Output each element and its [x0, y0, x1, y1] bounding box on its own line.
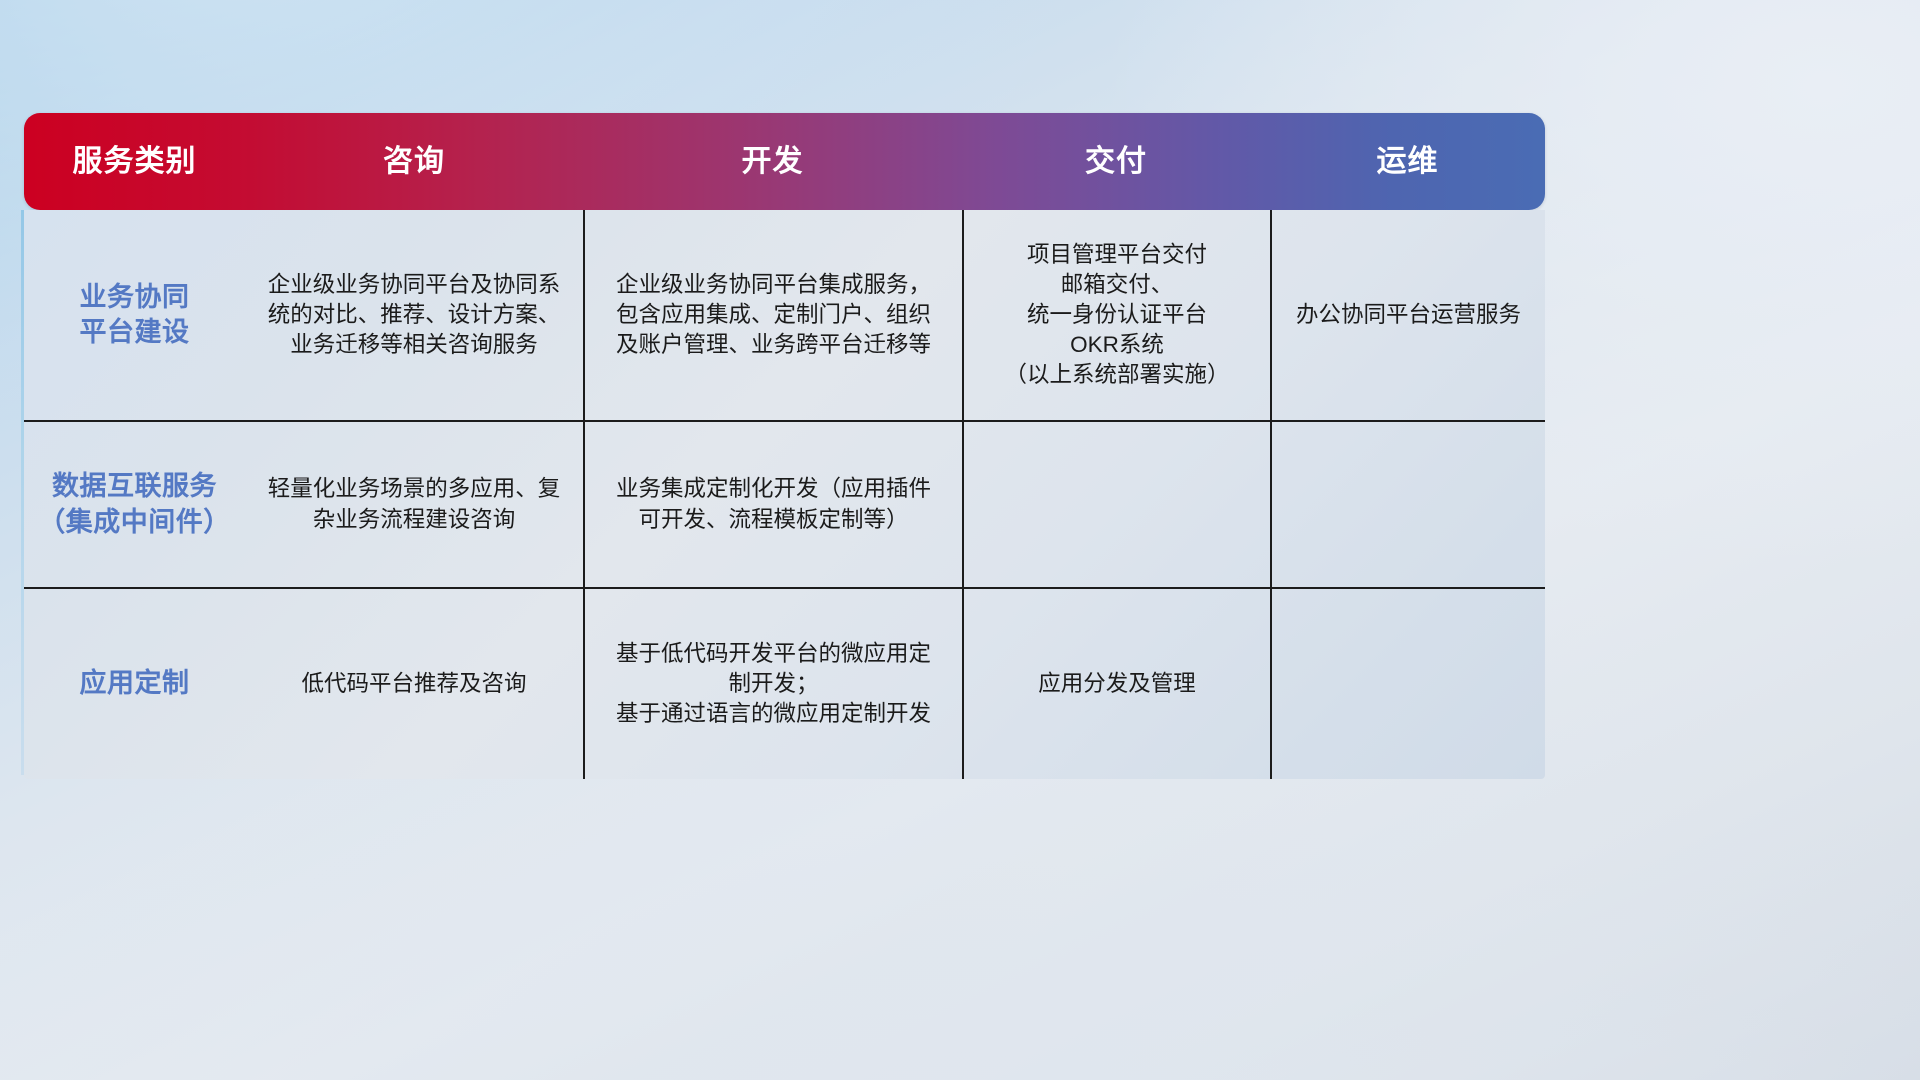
service-matrix-table: 服务类别 咨询 开发 交付 运维 业务协同 平台建设 企业级业务协同平台及协同系…: [24, 113, 1545, 775]
cell-operations: [1270, 422, 1545, 587]
cell-delivery: 项目管理平台交付 邮箱交付、 统一身份认证平台 OKR系统 （以上系统部署实施）: [962, 210, 1270, 420]
row-category-label: 数据互联服务 （集成中间件）: [24, 422, 245, 587]
table-header-row: 服务类别 咨询 开发 交付 运维: [24, 113, 1545, 210]
cell-consulting: 低代码平台推荐及咨询: [245, 589, 583, 779]
row-category-label: 业务协同 平台建设: [24, 210, 245, 420]
cell-consulting: 轻量化业务场景的多应用、复 杂业务流程建设咨询: [245, 422, 583, 587]
column-header-delivery: 交付: [962, 147, 1270, 177]
cell-operations: [1270, 589, 1545, 779]
table-row: 业务协同 平台建设 企业级业务协同平台及协同系 统的对比、推荐、设计方案、 业务…: [24, 210, 1545, 420]
table-body: 业务协同 平台建设 企业级业务协同平台及协同系 统的对比、推荐、设计方案、 业务…: [24, 210, 1545, 779]
cell-development: 业务集成定制化开发（应用插件 可开发、流程模板定制等）: [583, 422, 962, 587]
cell-operations: 办公协同平台运营服务: [1270, 210, 1545, 420]
table-row: 数据互联服务 （集成中间件） 轻量化业务场景的多应用、复 杂业务流程建设咨询 业…: [24, 420, 1545, 587]
row-category-label: 应用定制: [24, 589, 245, 779]
cell-delivery: 应用分发及管理: [962, 589, 1270, 779]
cell-consulting: 企业级业务协同平台及协同系 统的对比、推荐、设计方案、 业务迁移等相关咨询服务: [245, 210, 583, 420]
slide-canvas: 服务类别 咨询 开发 交付 运维 业务协同 平台建设 企业级业务协同平台及协同系…: [0, 0, 1920, 1080]
column-header-service-category: 服务类别: [24, 147, 245, 177]
cell-delivery: [962, 422, 1270, 587]
column-header-consulting: 咨询: [245, 147, 583, 177]
column-header-operations: 运维: [1270, 147, 1545, 177]
column-header-development: 开发: [583, 147, 962, 177]
cell-development: 基于低代码开发平台的微应用定 制开发； 基于通过语言的微应用定制开发: [583, 589, 962, 779]
table-row: 应用定制 低代码平台推荐及咨询 基于低代码开发平台的微应用定 制开发； 基于通过…: [24, 587, 1545, 779]
cell-development: 企业级业务协同平台集成服务， 包含应用集成、定制门户、组织 及账户管理、业务跨平…: [583, 210, 962, 420]
